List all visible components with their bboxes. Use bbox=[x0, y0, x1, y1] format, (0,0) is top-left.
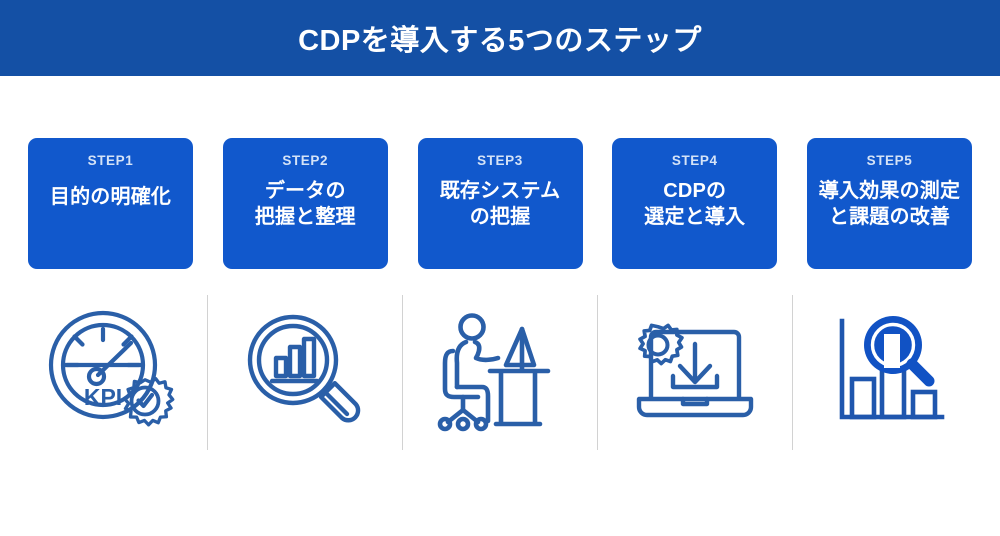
vertical-divider bbox=[207, 295, 208, 450]
step-title-2-line-2: 把握と整理 bbox=[255, 204, 356, 230]
arrow-right-icon bbox=[395, 191, 410, 217]
step-box-4[interactable]: STEP4 CDPの 選定と導入 bbox=[612, 138, 777, 269]
icon-cell-5 bbox=[807, 295, 972, 450]
step-title-2-line-1: データの bbox=[255, 178, 356, 204]
step-title-1: 目的の明確化 bbox=[46, 184, 175, 210]
step-title-3: 既存システム の把握 bbox=[436, 178, 565, 231]
step-title-5: 導入効果の測定 と課題の改善 bbox=[815, 178, 964, 231]
step-title-1-line-1: 目的の明確化 bbox=[50, 184, 171, 210]
step-label-3: STEP3 bbox=[477, 154, 523, 168]
icon-cell-3 bbox=[418, 295, 583, 450]
connector-4 bbox=[777, 138, 807, 269]
icon-cell-2 bbox=[223, 295, 388, 450]
arrow-right-icon bbox=[785, 191, 800, 217]
step-title-5-line-2: と課題の改善 bbox=[819, 204, 960, 230]
page-title: CDPを導入する5つのステップ bbox=[298, 17, 702, 59]
step-title-3-line-2: の把握 bbox=[440, 204, 561, 230]
step-box-2[interactable]: STEP2 データの 把握と整理 bbox=[223, 138, 388, 269]
connector-2 bbox=[388, 138, 418, 269]
icon-divider-1 bbox=[193, 295, 223, 450]
connector-3 bbox=[583, 138, 613, 269]
vertical-divider bbox=[792, 295, 793, 450]
vertical-divider bbox=[402, 295, 403, 450]
step-box-1[interactable]: STEP1 目的の明確化 bbox=[28, 138, 193, 269]
kpi-text: KPI bbox=[83, 384, 121, 410]
icon-cell-1: KPI bbox=[28, 295, 193, 450]
page-header: CDPを導入する5つのステップ bbox=[0, 0, 1000, 76]
icons-row: KPI bbox=[28, 295, 972, 450]
connector-1 bbox=[193, 138, 223, 269]
step-title-4: CDPの 選定と導入 bbox=[640, 178, 749, 231]
steps-row: STEP1 目的の明確化 STEP2 データの 把握と整理 STEP3 既存シス… bbox=[28, 138, 972, 269]
icon-divider-2 bbox=[388, 295, 418, 450]
step-label-2: STEP2 bbox=[282, 154, 328, 168]
bar-chart-magnifier-icon bbox=[820, 303, 960, 443]
arrow-right-icon bbox=[590, 191, 605, 217]
step-title-3-line-1: 既存システム bbox=[440, 178, 561, 204]
step-title-5-line-1: 導入効果の測定 bbox=[819, 178, 960, 204]
step-label-1: STEP1 bbox=[88, 154, 134, 168]
arrow-right-icon bbox=[200, 191, 215, 217]
laptop-download-gear-icon bbox=[625, 303, 765, 443]
magnifier-bar-chart-icon bbox=[235, 303, 375, 443]
kpi-gauge-icon: KPI bbox=[41, 303, 181, 443]
step-label-5: STEP5 bbox=[867, 154, 913, 168]
step-label-4: STEP4 bbox=[672, 154, 718, 168]
icon-divider-3 bbox=[583, 295, 613, 450]
step-box-3[interactable]: STEP3 既存システム の把握 bbox=[418, 138, 583, 269]
magnifier-solid bbox=[864, 316, 929, 381]
vertical-divider bbox=[597, 295, 598, 450]
icon-divider-4 bbox=[777, 295, 807, 450]
step-box-5[interactable]: STEP5 導入効果の測定 と課題の改善 bbox=[807, 138, 972, 269]
step-title-4-line-1: CDPの bbox=[644, 178, 745, 204]
step-title-4-line-2: 選定と導入 bbox=[644, 204, 745, 230]
icon-cell-4 bbox=[612, 295, 777, 450]
person-at-desk-icon bbox=[430, 303, 570, 443]
step-title-2: データの 把握と整理 bbox=[251, 178, 360, 231]
